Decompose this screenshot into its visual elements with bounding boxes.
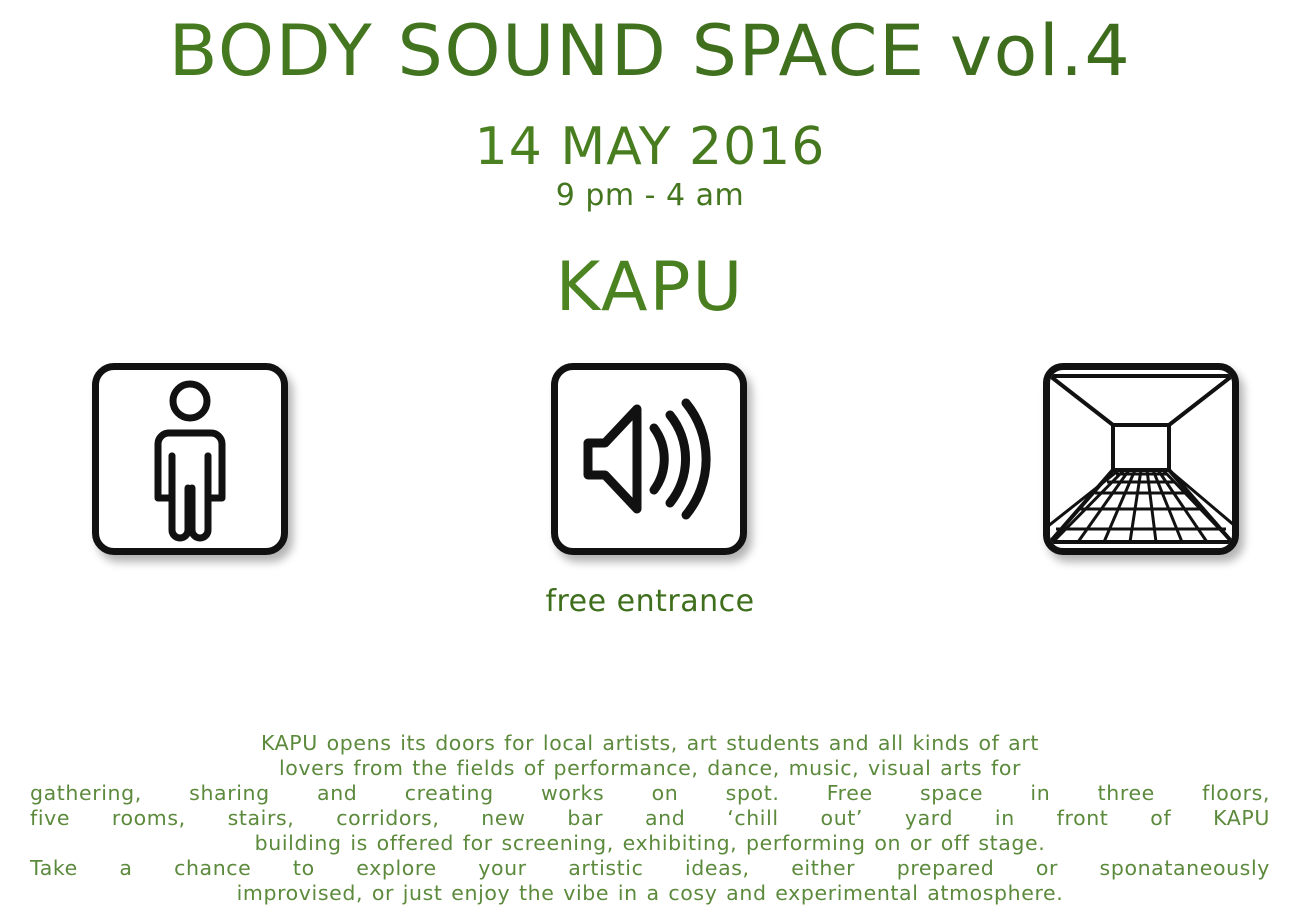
body-copy-line: Take a chance to explore your artistic i… [30,856,1270,881]
event-time: 9 pm - 4 am [0,178,1300,214]
space-icon-card [1043,363,1239,555]
body-icon-card [92,363,288,555]
icon-slot-space [1043,363,1243,558]
body-copy: KAPU opens its doors for local artists, … [30,731,1270,906]
event-date: 14 MAY 2016 [0,118,1300,176]
body-copy-line: KAPU opens its doors for local artists, … [30,731,1270,756]
body-copy-line: building is offered for screening, exhib… [30,831,1270,856]
sound-icon-card [551,363,747,555]
body-copy-line: improvised, or just enjoy the vibe in a … [30,881,1270,906]
free-entrance-label: free entrance [0,583,1300,621]
body-copy-line: five rooms, stairs, corridors, new bar a… [30,806,1270,831]
icon-row [0,363,1300,573]
standing-person-icon [99,370,281,548]
venue-name: KAPU [0,248,1300,328]
page-title: BODY SOUND SPACE vol.4 [0,6,1300,96]
body-copy-line: gathering, sharing and creating works on… [30,781,1270,806]
speaker-volume-icon [558,370,740,548]
perspective-room-icon [1050,370,1232,548]
body-copy-line: lovers from the fields of performance, d… [30,756,1270,781]
poster-canvas: BODY SOUND SPACE vol.4 14 MAY 2016 9 pm … [0,0,1300,922]
date-block: 14 MAY 2016 9 pm - 4 am [0,118,1300,214]
icon-slot-sound [551,363,751,558]
icon-slot-body [92,363,292,558]
